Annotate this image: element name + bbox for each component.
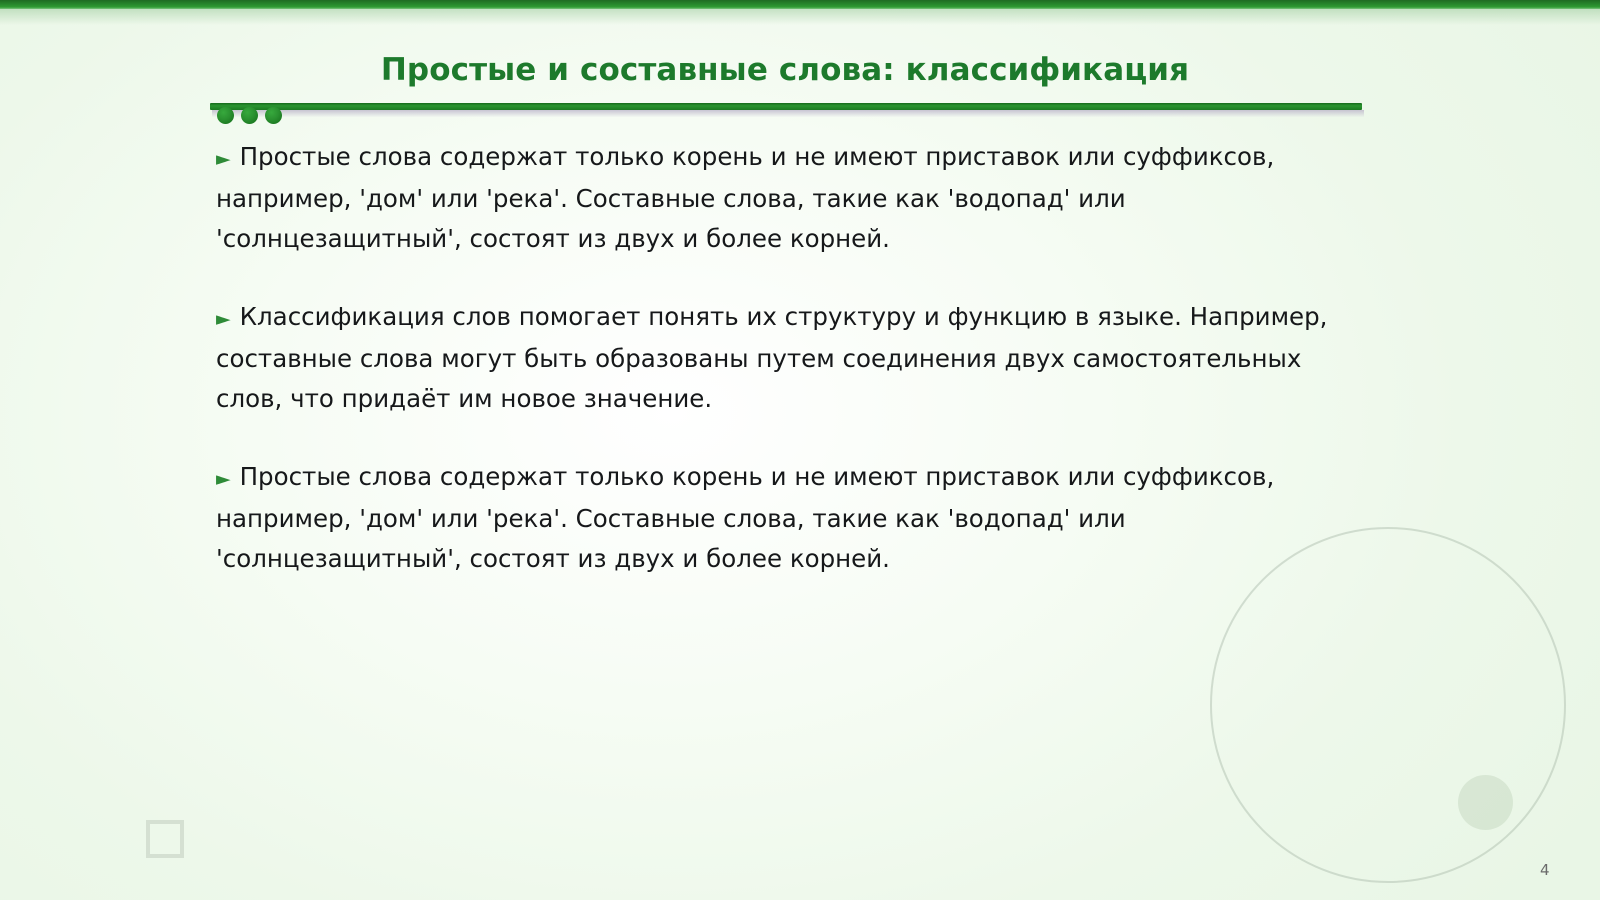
bullet-text: Простые слова содержат только корень и н… bbox=[216, 462, 1274, 573]
divider-dot-icon bbox=[265, 107, 282, 124]
square-outline-decoration bbox=[146, 820, 184, 858]
bullet-text: Классификация слов помогает понять их ст… bbox=[216, 302, 1327, 413]
circle-outline-decoration bbox=[1210, 527, 1566, 883]
title-divider-shadow bbox=[212, 110, 1364, 117]
page-number: 4 bbox=[1540, 861, 1550, 879]
top-accent-bar-glow bbox=[0, 9, 1600, 25]
bullet-text: Простые слова содержат только корень и н… bbox=[216, 142, 1274, 253]
title-divider-line bbox=[210, 103, 1362, 110]
divider-dot-icon bbox=[217, 107, 234, 124]
title-divider bbox=[210, 103, 1362, 127]
content-body: ►Простые слова содержат только корень и … bbox=[216, 137, 1366, 579]
bullet-item: ►Классификация слов помогает понять их с… bbox=[216, 297, 1366, 419]
triangle-bullet-icon: ► bbox=[216, 308, 231, 330]
divider-dot-icon bbox=[241, 107, 258, 124]
bullet-item: ►Простые слова содержат только корень и … bbox=[216, 457, 1366, 579]
top-accent-bar bbox=[0, 0, 1600, 9]
triangle-bullet-icon: ► bbox=[216, 148, 231, 170]
bullet-item: ►Простые слова содержат только корень и … bbox=[216, 137, 1366, 259]
filled-circle-decoration bbox=[1458, 775, 1513, 830]
page-title: Простые и составные слова: классификация bbox=[210, 52, 1360, 88]
triangle-bullet-icon: ► bbox=[216, 468, 231, 490]
slide: Простые и составные слова: классификация… bbox=[0, 0, 1600, 900]
